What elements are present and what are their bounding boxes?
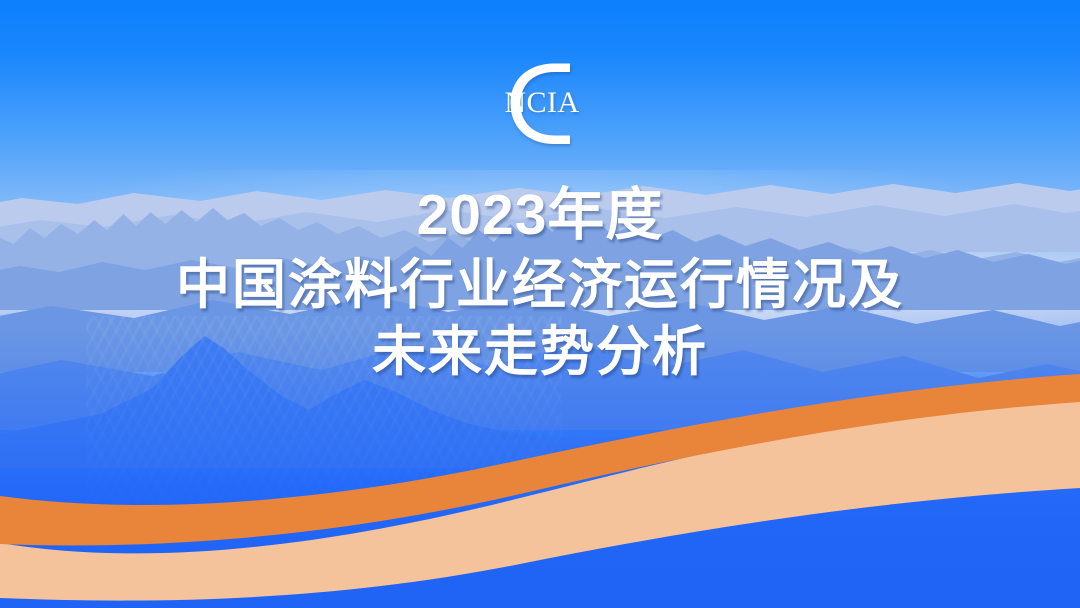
title-line-main: 中国涂料行业经济运行情况及 bbox=[0, 254, 1080, 317]
title-block: 2023年度 中国涂料行业经济运行情况及 未来走势分析 bbox=[0, 182, 1080, 383]
wave-peach bbox=[0, 390, 1080, 601]
bottom-wave-decoration bbox=[0, 368, 1080, 608]
ncia-logo-text: NCIA bbox=[504, 86, 579, 119]
cover-slide: NCIA 2023年度 中国涂料行业经济运行情况及 未来走势分析 bbox=[0, 0, 1080, 608]
title-line-year: 2023年度 bbox=[0, 182, 1080, 248]
ncia-logo: NCIA bbox=[492, 56, 588, 152]
